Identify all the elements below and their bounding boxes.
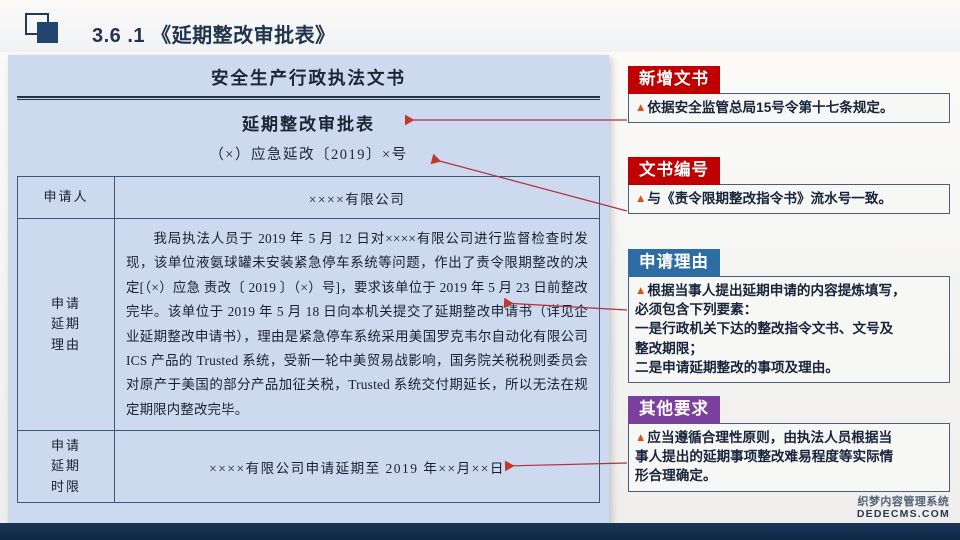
triangle-marker-icon: ▲	[635, 193, 646, 205]
table-row-limit: 申请 延期 时限 ××××有限公司申请延期至 2019 年××月××日	[18, 431, 600, 503]
triangle-marker-icon: ▲	[635, 432, 646, 444]
document-sub-heading: 延期整改审批表	[17, 108, 600, 143]
row-label-limit-l3: 时限	[22, 477, 110, 497]
overlapping-squares-icon	[25, 13, 59, 43]
row-label-limit-l1: 申请	[22, 436, 110, 456]
row-label-limit-l2: 延期	[22, 456, 110, 476]
annotation-body-document-number: ▲与《责令限期整改指令书》流水号一致。	[628, 184, 950, 214]
row-label-applicant: 申请人	[18, 177, 115, 219]
triangle-marker-icon: ▲	[635, 285, 646, 297]
row-value-reason: 我局执法人员于 2019 年 5 月 12 日对××××有限公司进行监督检查时发…	[115, 219, 600, 431]
heading-divider	[17, 96, 600, 100]
triangle-marker-icon: ▲	[635, 102, 646, 114]
approval-table: 申请人 ××××有限公司 申请 延期 理由 我局执法人员于 2019 年 5 月…	[17, 176, 600, 503]
annotation-body-other-requirements: ▲应当遵循合理性原则，由执法人员根据当 事人提出的延期事项整改难易程度等实际情 …	[628, 423, 950, 492]
annotation-header-other-requirements: 其他要求	[628, 396, 720, 424]
annotation-header-new-document: 新增文书	[628, 66, 720, 94]
table-row-reason: 申请 延期 理由 我局执法人员于 2019 年 5 月 12 日对××××有限公…	[18, 219, 600, 431]
logo-filled-square	[37, 22, 58, 43]
footer-bar	[0, 523, 960, 540]
row-label-reason-l2: 延期	[22, 314, 110, 334]
row-label-reason-l3: 理由	[22, 335, 110, 355]
annotation-line: 事人提出的延期事项整改难易程度等实际情	[635, 447, 943, 466]
reason-text: 我局执法人员于 2019 年 5 月 12 日对××××有限公司进行监督检查时发…	[126, 231, 588, 417]
annotation-line: 依据安全监管总局15号令第十七条规定。	[647, 100, 893, 115]
annotation-line: 一是行政机关下达的整改指令文书、文号及	[635, 319, 943, 338]
document-inner: 安全生产行政执法文书 延期整改审批表 （×）应急延改〔2019〕×号 申请人 ×…	[17, 61, 600, 526]
annotation-line-text: 根据当事人提出延期申请的内容提炼填写，	[647, 283, 905, 298]
annotation-line-text: 应当遵循合理性原则，由执法人员根据当	[647, 430, 892, 445]
annotation-line: 整改期限；	[635, 339, 943, 358]
annotation-body-new-document: ▲依据安全监管总局15号令第十七条规定。	[628, 93, 950, 123]
row-value-limit: ××××有限公司申请延期至 2019 年××月××日	[115, 431, 600, 503]
annotation-line: 必须包含下列要素：	[635, 300, 943, 319]
slide-header: 3.6 .1 《延期整改审批表》	[0, 0, 960, 52]
annotation-document-number: 文书编号 ▲与《责令限期整改指令书》流水号一致。	[628, 157, 950, 214]
document-main-heading: 安全生产行政执法文书	[17, 61, 600, 95]
table-row-applicant: 申请人 ××××有限公司	[18, 177, 600, 219]
annotation-line: ▲根据当事人提出延期申请的内容提炼填写，	[635, 281, 943, 300]
watermark-en: DEDECMS.COM	[857, 509, 950, 520]
annotation-line: 形合理确定。	[635, 466, 943, 485]
row-label-reason: 申请 延期 理由	[18, 219, 115, 431]
annotation-header-document-number: 文书编号	[628, 157, 720, 185]
annotation-application-reason: 申请理由 ▲根据当事人提出延期申请的内容提炼填写， 必须包含下列要素： 一是行政…	[628, 249, 950, 383]
reason-paragraph: 我局执法人员于 2019 年 5 月 12 日对××××有限公司进行监督检查时发…	[126, 227, 588, 422]
annotation-new-document: 新增文书 ▲依据安全监管总局15号令第十七条规定。	[628, 66, 950, 123]
annotation-line: 二是申请延期整改的事项及理由。	[635, 358, 943, 377]
document-number-line: （×）应急延改〔2019〕×号	[17, 143, 600, 176]
annotation-body-application-reason: ▲根据当事人提出延期申请的内容提炼填写， 必须包含下列要素： 一是行政机关下达的…	[628, 276, 950, 383]
page-title: 3.6 .1 《延期整改审批表》	[92, 19, 336, 48]
annotation-header-application-reason: 申请理由	[628, 249, 720, 277]
annotation-line: 与《责令限期整改指令书》流水号一致。	[647, 191, 892, 206]
annotation-line: ▲应当遵循合理性原则，由执法人员根据当	[635, 428, 943, 447]
document-panel: 安全生产行政执法文书 延期整改审批表 （×）应急延改〔2019〕×号 申请人 ×…	[8, 55, 609, 526]
watermark: 织梦内容管理系统 DEDECMS.COM	[857, 497, 950, 520]
row-value-applicant: ××××有限公司	[115, 177, 600, 219]
annotation-other-requirements: 其他要求 ▲应当遵循合理性原则，由执法人员根据当 事人提出的延期事项整改难易程度…	[628, 396, 950, 492]
row-label-reason-l1: 申请	[22, 294, 110, 314]
row-label-limit: 申请 延期 时限	[18, 431, 115, 503]
